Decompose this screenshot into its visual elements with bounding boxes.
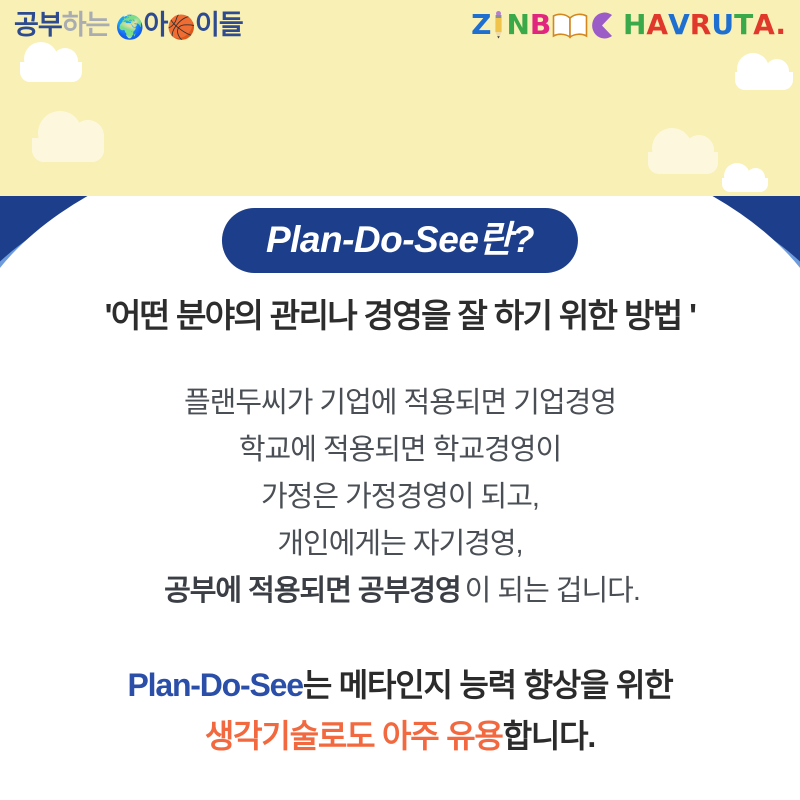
footer-line-2-rest: 합니다. (503, 718, 595, 754)
logo-letter-b: B (530, 9, 551, 41)
highlighted-text: 공부에 적용되면 공부경영 (160, 568, 465, 615)
body-line-highlighted: 공부에 적용되면 공부경영이 되는 겁니다. (0, 568, 800, 615)
cloud-icon (735, 72, 793, 90)
logo-left-segment-deul: 들 (219, 10, 243, 40)
footer-plan-do-see: Plan-Do-See (128, 667, 303, 703)
header-band: 공부하는 🌍아🏀이들 ZNB HAVRUTA. (0, 0, 800, 196)
footer-emphasis-orange: 생각기술로도 아주 유용 (205, 718, 503, 754)
brand-logo-zinbook-havruta: ZNB HAVRUTA. (471, 9, 786, 46)
logo-letter-u: U (711, 9, 734, 41)
cloud-icon (648, 152, 718, 174)
footer-text-block: Plan-Do-See는 메타인지 능력 향상을 위한 생각기술로도 아주 유용… (0, 660, 800, 762)
body-text-block: 플랜두씨가 기업에 적용되면 기업경영 학교에 적용되면 학교경영이 가정은 가… (0, 380, 800, 615)
logo-letter-r: R (690, 9, 712, 41)
page-title: Plan-Do-See란? (222, 208, 578, 273)
logo-letter-a1: A (646, 9, 668, 41)
footer-line-1-rest: 는 메타인지 능력 향상을 위한 (303, 667, 673, 703)
cloud-icon (20, 62, 82, 82)
cloud-icon (32, 138, 104, 162)
logo-letter-z: Z (471, 9, 491, 41)
logo-letter-a2: A. (753, 9, 786, 41)
logo-letter-v: V (668, 9, 690, 41)
brand-logo-gongbuhaneun-aideul: 공부하는 🌍아🏀이들 (14, 8, 243, 44)
infographic-card: 공부하는 🌍아🏀이들 ZNB HAVRUTA. Plan-Do-See란? '어… (0, 0, 800, 800)
logo-letter-n: N (506, 9, 529, 41)
logo-left-segment-i: 이 (195, 10, 219, 40)
footer-line-2: 생각기술로도 아주 유용합니다. (0, 711, 800, 762)
logo-left-segment-haneun: 하는 (62, 10, 110, 40)
logo-letter-c-pacman (589, 9, 613, 41)
logo-left-segment-gongbu: 공부 (14, 10, 62, 40)
body-line: 가정은 가정경영이 되고, (0, 474, 800, 521)
highlight-line-rest: 이 되는 겁니다. (465, 575, 640, 607)
logo-letter-t: T (734, 9, 753, 41)
globe-icon: 🌍 (116, 14, 144, 40)
basketball-icon: 🏀 (167, 14, 195, 40)
body-line: 개인에게는 자기경영, (0, 521, 800, 568)
footer-line-1: Plan-Do-See는 메타인지 능력 향상을 위한 (0, 660, 800, 711)
logo-letter-h: H (623, 9, 646, 41)
logo-left-segment-a: 아 (144, 10, 168, 40)
cloud-icon (722, 178, 768, 192)
body-line: 플랜두씨가 기업에 적용되면 기업경영 (0, 380, 800, 427)
open-book-icon (552, 12, 588, 46)
subtitle: '어떤 분야의 관리나 경영을 잘 하기 위한 방법 ' (0, 294, 800, 338)
body-line: 학교에 적용되면 학교경영이 (0, 427, 800, 474)
pencil-icon (493, 11, 504, 39)
